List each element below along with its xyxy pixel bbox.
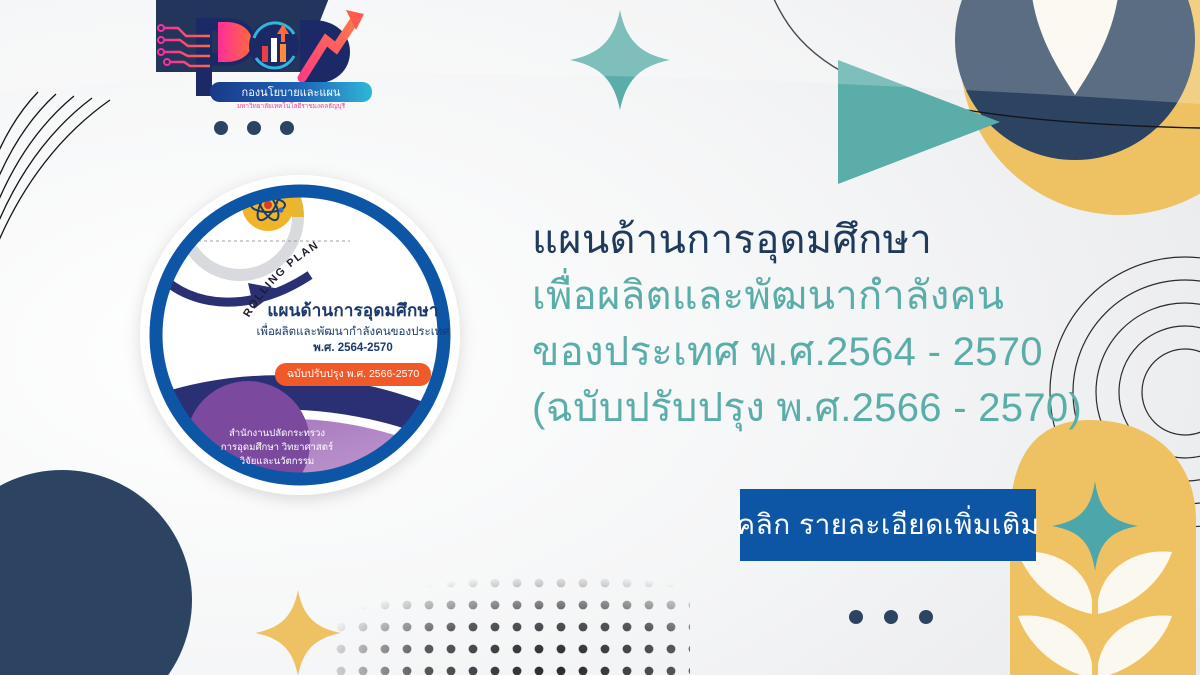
halftone-dot-gradient — [330, 540, 690, 675]
headline-line-4: (ฉบับปรับปรุง พ.ศ.2566 - 2570) — [532, 380, 1092, 436]
organization-logo[interactable]: กองนโยบายและแผน มหาวิทยาลัยเทคโนโลยีราชม… — [150, 0, 390, 110]
logo-banner: กองนโยบายและแผน — [210, 82, 372, 102]
headline-line-2: เพื่อผลิตและพัฒนากำลังคน — [532, 268, 1092, 324]
plan-document-graphic[interactable]: ROLLING PLAN แผนด้านการอุดมศึกษา เพื่อผล… — [120, 155, 480, 515]
headline-line-1: แผนด้านการอุดมศึกษา — [532, 212, 1092, 268]
logo-sub-text: มหาวิทยาลัยเทคโนโลยีราชมงคลธัญบุรี — [237, 102, 346, 110]
details-cta-label: คลิก รายละเอียดเพิ่มเติม — [736, 503, 1039, 547]
headline-line-3: ของประเทศ พ.ศ.2564 - 2570 — [532, 324, 1092, 380]
growth-arrow-icon — [300, 10, 364, 84]
banner-stage: กองนโยบายและแผน มหาวิทยาลัยเทคโนโลยีราชม… — [0, 0, 1200, 675]
headline-block: แผนด้านการอุดมศึกษา เพื่อผลิตและพัฒนากำล… — [532, 212, 1092, 436]
logo-banner-text: กองนโยบายและแผน — [242, 85, 341, 99]
bar-chart-icon — [249, 21, 299, 71]
details-cta-button[interactable]: คลิก รายละเอียดเพิ่มเติม — [740, 489, 1036, 561]
